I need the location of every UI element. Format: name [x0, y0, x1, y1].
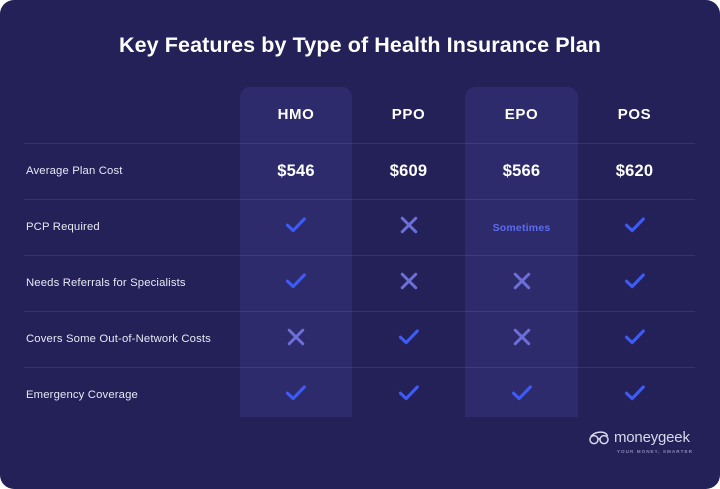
- cross-icon: [286, 327, 306, 347]
- column-header-label: EPO: [505, 106, 538, 123]
- table-cell: $609: [352, 162, 465, 181]
- table-cell: [240, 272, 352, 295]
- table-row: Average Plan Cost $546 $609 $566 $620: [0, 143, 720, 199]
- check-icon: [398, 328, 420, 346]
- logo-tagline: YOUR MONEY, SMARTER: [589, 449, 693, 454]
- cell-value: $566: [503, 162, 541, 180]
- table-cell: Sometimes: [465, 218, 578, 236]
- table-cell: [465, 271, 578, 296]
- infographic-card: Key Features by Type of Health Insurance…: [0, 0, 720, 489]
- comparison-table: HMO PPO EPO POS Average Plan Cost $546 $…: [0, 87, 720, 423]
- table-row: Needs Referrals for Specialists: [0, 255, 720, 311]
- table-row: Covers Some Out-of-Network Costs: [0, 311, 720, 367]
- table-cell: [465, 327, 578, 352]
- cell-value: $620: [616, 162, 654, 180]
- check-icon: [285, 384, 307, 402]
- column-header-ppo: PPO: [352, 106, 465, 124]
- row-label: Needs Referrals for Specialists: [0, 277, 240, 289]
- brand-logo: moneygeek YOUR MONEY, SMARTER: [589, 430, 693, 454]
- check-icon: [285, 272, 307, 290]
- cell-value: $546: [277, 162, 315, 180]
- logo-wordmark: moneygeek: [614, 430, 690, 445]
- glasses-icon: [589, 431, 609, 445]
- check-icon: [398, 384, 420, 402]
- cross-icon: [399, 271, 419, 291]
- row-label: PCP Required: [0, 221, 240, 233]
- table-row: PCP Required Sometimes: [0, 199, 720, 255]
- column-header-hmo: HMO: [240, 106, 352, 124]
- cross-icon: [512, 271, 532, 291]
- column-header-label: HMO: [278, 106, 315, 123]
- table-cell: [240, 216, 352, 239]
- table-cell: $620: [578, 162, 691, 181]
- logo-row: moneygeek: [589, 430, 693, 445]
- check-icon: [624, 384, 646, 402]
- table-cell: [578, 216, 691, 239]
- row-label: Covers Some Out-of-Network Costs: [0, 333, 240, 345]
- table-cell: [465, 384, 578, 407]
- table-cell: $566: [465, 162, 578, 181]
- check-icon: [624, 216, 646, 234]
- row-label: Average Plan Cost: [0, 165, 240, 177]
- table-cell: [352, 271, 465, 296]
- check-icon: [624, 272, 646, 290]
- check-icon: [285, 216, 307, 234]
- table-cell: [352, 384, 465, 407]
- table-header-row: HMO PPO EPO POS: [0, 87, 720, 143]
- column-header-label: POS: [618, 106, 651, 123]
- check-icon: [624, 328, 646, 346]
- cross-icon: [512, 327, 532, 347]
- page-title: Key Features by Type of Health Insurance…: [0, 33, 720, 58]
- table-cell: [578, 384, 691, 407]
- column-header-epo: EPO: [465, 106, 578, 124]
- table-row: Emergency Coverage: [0, 367, 720, 423]
- table-cell: [352, 328, 465, 351]
- column-header-pos: POS: [578, 106, 691, 124]
- table-cell: [240, 384, 352, 407]
- column-header-label: PPO: [392, 106, 425, 123]
- row-label: Emergency Coverage: [0, 389, 240, 401]
- cell-value: Sometimes: [493, 222, 551, 234]
- cell-value: $609: [390, 162, 428, 180]
- check-icon: [511, 384, 533, 402]
- table-cell: [240, 327, 352, 352]
- table-cell: $546: [240, 162, 352, 181]
- table-cell: [352, 215, 465, 240]
- cross-icon: [399, 215, 419, 235]
- table-cell: [578, 328, 691, 351]
- table-cell: [578, 272, 691, 295]
